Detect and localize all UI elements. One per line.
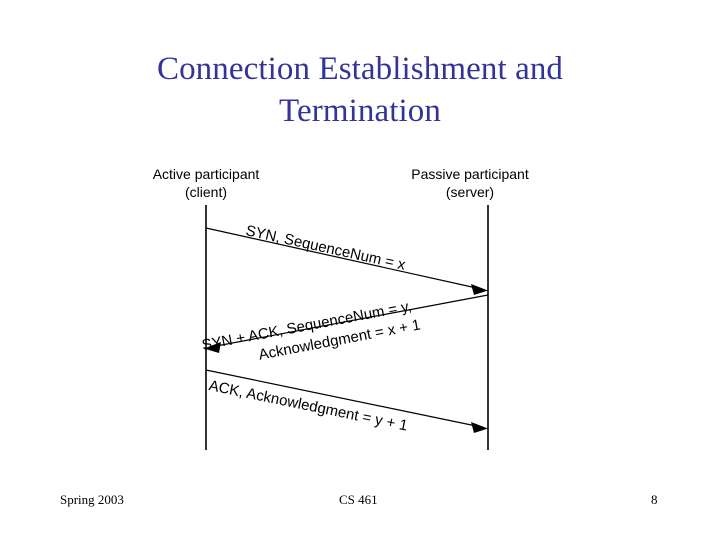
slide: Connection Establishment and Termination… [0,0,720,540]
footer-course: CS 461 [339,492,378,508]
sequence-diagram [0,0,720,540]
arrowhead-ack [471,422,488,433]
footer-term: Spring 2003 [60,492,124,508]
footer-slide-number: 8 [651,492,658,508]
arrowhead-syn [471,284,488,295]
